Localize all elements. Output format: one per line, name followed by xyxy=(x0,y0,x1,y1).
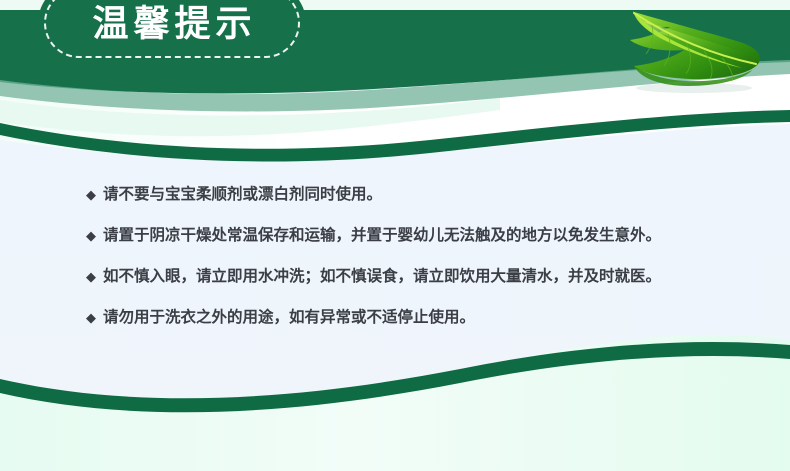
diamond-bullet-icon: ◆ xyxy=(86,225,96,249)
notice-text: 如不慎入眼，请立即用水冲洗；如不慎误食，请立即饮用大量清水，并及时就医。 xyxy=(103,264,661,288)
page-title: 温馨提示 xyxy=(38,6,306,42)
tips-title-badge: 温馨提示 xyxy=(38,0,306,64)
notice-text: 请不要与宝宝柔顺剂或漂白剂同时使用。 xyxy=(103,182,382,206)
diamond-bullet-icon: ◆ xyxy=(86,266,96,290)
notice-text: 请勿用于洗衣之外的用途，如有异常或不适停止使用。 xyxy=(103,305,475,329)
list-item: ◆ 请勿用于洗衣之外的用途，如有异常或不适停止使用。 xyxy=(86,305,746,331)
diamond-bullet-icon: ◆ xyxy=(86,307,96,331)
list-item: ◆ 请置于阴凉干燥处常温保存和运输，并置于婴幼儿无法触及的地方以免发生意外。 xyxy=(86,223,746,249)
diamond-bullet-icon: ◆ xyxy=(86,184,96,208)
tips-banner: 温馨提示 ◆ 请不要与宝宝柔顺剂或漂白剂同时使用。 ◆ 请置于阴凉干燥处常温保存… xyxy=(0,0,790,471)
notice-list: ◆ 请不要与宝宝柔顺剂或漂白剂同时使用。 ◆ 请置于阴凉干燥处常温保存和运输，并… xyxy=(86,182,746,346)
notice-text: 请置于阴凉干燥处常温保存和运输，并置于婴幼儿无法触及的地方以免发生意外。 xyxy=(103,223,661,247)
list-item: ◆ 请不要与宝宝柔顺剂或漂白剂同时使用。 xyxy=(86,182,746,208)
list-item: ◆ 如不慎入眼，请立即用水冲洗；如不慎误食，请立即饮用大量清水，并及时就医。 xyxy=(86,264,746,290)
